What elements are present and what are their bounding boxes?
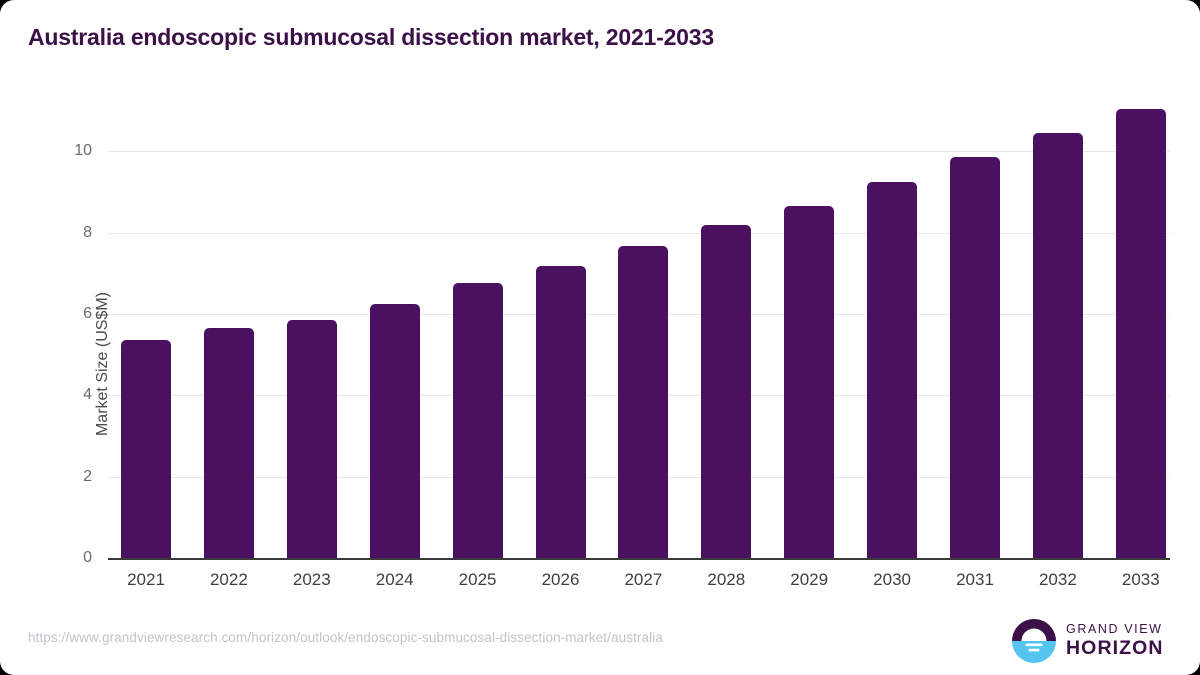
x-axis-tick-label: 2033 (1096, 570, 1186, 590)
bar[interactable] (1033, 133, 1083, 558)
y-axis-tick-label: 8 (32, 224, 92, 242)
bar[interactable] (121, 340, 171, 558)
gridline (108, 233, 1170, 234)
logo-line-grand-view: GRAND VIEW (1066, 622, 1166, 637)
bar[interactable] (1116, 109, 1166, 558)
bar[interactable] (701, 225, 751, 558)
y-axis-tick-label: 0 (32, 549, 92, 567)
x-axis-tick-label: 2025 (433, 570, 523, 590)
x-axis-tick-label: 2021 (101, 570, 191, 590)
bar[interactable] (453, 283, 503, 558)
x-axis-tick-label: 2028 (681, 570, 771, 590)
bar[interactable] (204, 328, 254, 558)
chart-card: Australia endoscopic submucosal dissecti… (0, 0, 1200, 675)
plot-area: 0246810202120222023202420252026202720282… (0, 0, 1200, 675)
horizon-sun-icon (1012, 619, 1056, 663)
bar[interactable] (536, 266, 586, 558)
gridline (108, 151, 1170, 152)
y-axis-tick-label: 4 (32, 386, 92, 404)
y-axis-title: Market Size (US$M) (94, 199, 112, 529)
x-axis-tick-label: 2026 (516, 570, 606, 590)
x-axis-tick-label: 2023 (267, 570, 357, 590)
bar[interactable] (370, 304, 420, 558)
source-url: https://www.grandviewresearch.com/horizo… (28, 630, 663, 645)
y-axis-tick-label: 10 (32, 142, 92, 160)
x-axis-tick-label: 2027 (598, 570, 688, 590)
bar[interactable] (950, 157, 1000, 558)
bar[interactable] (867, 182, 917, 558)
y-axis-tick-label: 6 (32, 305, 92, 323)
x-axis-tick-label: 2024 (350, 570, 440, 590)
grand-view-horizon-logo: GRAND VIEW HORIZON (1012, 618, 1164, 664)
bar[interactable] (618, 246, 668, 558)
logo-wordmark: GRAND VIEW HORIZON (1066, 622, 1166, 659)
x-axis-tick-label: 2029 (764, 570, 854, 590)
bar[interactable] (287, 320, 337, 558)
bar[interactable] (784, 206, 834, 558)
x-axis-tick-label: 2022 (184, 570, 274, 590)
logo-line-horizon: HORIZON (1066, 637, 1166, 659)
x-axis-tick-label: 2032 (1013, 570, 1103, 590)
x-axis-line (108, 558, 1170, 560)
x-axis-tick-label: 2031 (930, 570, 1020, 590)
x-axis-tick-label: 2030 (847, 570, 937, 590)
y-axis-tick-label: 2 (32, 468, 92, 486)
